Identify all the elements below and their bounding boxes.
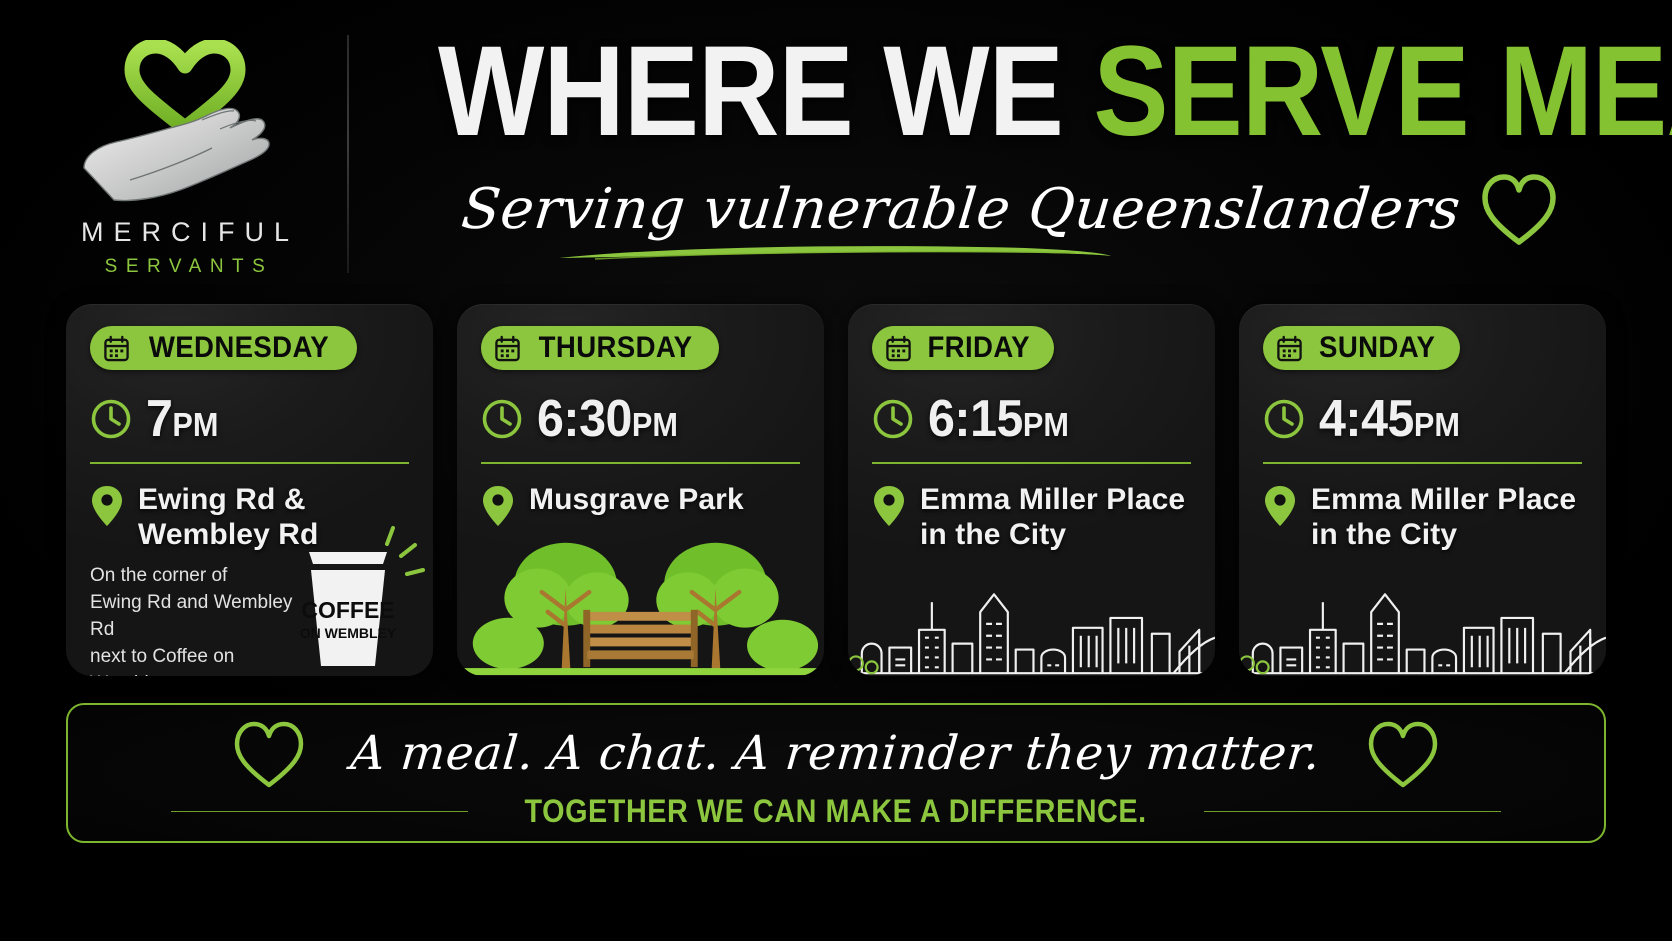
title-part-green: SERVE MEALS (1093, 20, 1672, 163)
schedule-card-sunday[interactable]: SUNDAY 4:45PM Emma Miller Place in the C… (1239, 304, 1606, 676)
time-row: 7PM (90, 392, 409, 446)
place-description: On the corner of Ewing Rd and Wembley Rd… (90, 563, 305, 676)
time-number: 6:30 (537, 390, 632, 448)
time-value: 6:15PM (928, 389, 1069, 449)
schedule-card-thursday[interactable]: THURSDAY 6:30PM Musgrave Park (457, 304, 824, 676)
place-row: Emma Miller Place in the City (1263, 482, 1582, 553)
coffee-label-bottom: ON WEMBLEY (300, 625, 397, 641)
time-row: 6:30PM (481, 392, 800, 446)
heart-outline-icon (1480, 172, 1558, 246)
clock-icon (1263, 398, 1305, 440)
time-value: 7PM (146, 389, 218, 449)
schedule-card-wednesday[interactable]: WEDNESDAY 7PM Ewing Rd & Wembley Rd (66, 304, 433, 676)
header-divider (347, 35, 349, 273)
time-row: 4:45PM (1263, 392, 1582, 446)
map-pin-icon (481, 484, 515, 528)
park-bench-trees-illustration (457, 526, 824, 676)
place-row: Emma Miller Place in the City (872, 482, 1191, 553)
day-badge: THURSDAY (481, 326, 719, 370)
coffee-label-top: COFFEE (301, 597, 394, 623)
divider-rule (90, 462, 409, 464)
calendar-icon (1276, 335, 1303, 362)
calendar-icon (494, 335, 521, 362)
tagline-rule-left (171, 811, 468, 812)
time-number: 4:45 (1319, 390, 1414, 448)
heart-outline-icon (233, 719, 305, 789)
day-label: SUNDAY (1319, 331, 1435, 365)
time-ampm: PM (632, 406, 678, 443)
time-number: 6:15 (928, 390, 1023, 448)
poster-root: MERCIFUL SERVANTS WHERE WE SERVE MEALS S… (0, 0, 1672, 941)
brush-underline (555, 244, 1115, 260)
hand-holding-heart-logo (70, 40, 300, 215)
time-number: 7 (146, 390, 172, 448)
banner-quote-row: A meal. A chat. A reminder they matter. (233, 719, 1438, 789)
day-label: WEDNESDAY (149, 331, 329, 365)
time-value: 6:30PM (537, 389, 678, 449)
clock-icon (481, 398, 523, 440)
banner-tagline: TOGETHER WE CAN MAKE A DIFFERENCE. (525, 793, 1147, 830)
title-part-white: WHERE WE (438, 20, 1063, 163)
banner-quote: A meal. A chat. A reminder they matter. (349, 726, 1323, 781)
brand-name: MERCIFUL (71, 217, 299, 248)
map-pin-icon (872, 484, 906, 528)
time-value: 4:45PM (1319, 389, 1460, 449)
place-name: Musgrave Park (529, 482, 744, 517)
divider-rule (1263, 462, 1582, 464)
title-block: WHERE WE SERVE MEALS Serving vulnerable … (360, 28, 1660, 246)
banner-tagline-row: TOGETHER WE CAN MAKE A DIFFERENCE. (171, 793, 1501, 830)
brand-subname: SERVANTS (97, 256, 274, 278)
clock-icon (872, 398, 914, 440)
park-bench (583, 610, 697, 667)
time-ampm: PM (172, 406, 218, 443)
page-title: WHERE WE SERVE MEALS (438, 28, 1582, 156)
calendar-icon (885, 335, 912, 362)
day-label: FRIDAY (927, 331, 1029, 365)
clock-icon (90, 398, 132, 440)
tagline-rule-right (1204, 811, 1501, 812)
divider-rule (872, 462, 1191, 464)
time-row: 6:15PM (872, 392, 1191, 446)
place-row: Musgrave Park (481, 482, 800, 528)
time-ampm: PM (1023, 406, 1069, 443)
schedule-card-friday[interactable]: FRIDAY 6:15PM Emma Miller Place in the C… (848, 304, 1215, 676)
time-ampm: PM (1414, 406, 1460, 443)
day-badge: FRIDAY (872, 326, 1054, 370)
day-badge: SUNDAY (1263, 326, 1460, 370)
brand-logo: MERCIFUL SERVANTS (0, 20, 370, 280)
subtitle-row: Serving vulnerable Queenslanders (360, 172, 1660, 246)
place-name: Ewing Rd & Wembley Rd (138, 482, 408, 553)
divider-rule (481, 462, 800, 464)
map-pin-icon (1263, 484, 1297, 528)
schedule-cards: WEDNESDAY 7PM Ewing Rd & Wembley Rd (66, 304, 1606, 676)
day-badge: WEDNESDAY (90, 326, 357, 370)
page-subtitle: Serving vulnerable Queenslanders (459, 177, 1464, 242)
place-row: Ewing Rd & Wembley Rd (90, 482, 409, 553)
day-label: THURSDAY (539, 331, 693, 365)
city-skyline-illustration (1239, 556, 1606, 676)
map-pin-icon (90, 484, 124, 528)
place-name: Emma Miller Place in the City (920, 482, 1190, 553)
city-skyline-illustration (848, 556, 1215, 676)
calendar-icon (103, 335, 130, 362)
header: MERCIFUL SERVANTS WHERE WE SERVE MEALS S… (0, 0, 1672, 300)
place-name: Emma Miller Place in the City (1311, 482, 1581, 553)
bottom-banner: A meal. A chat. A reminder they matter. … (66, 703, 1606, 843)
heart-outline-icon (1367, 719, 1439, 789)
